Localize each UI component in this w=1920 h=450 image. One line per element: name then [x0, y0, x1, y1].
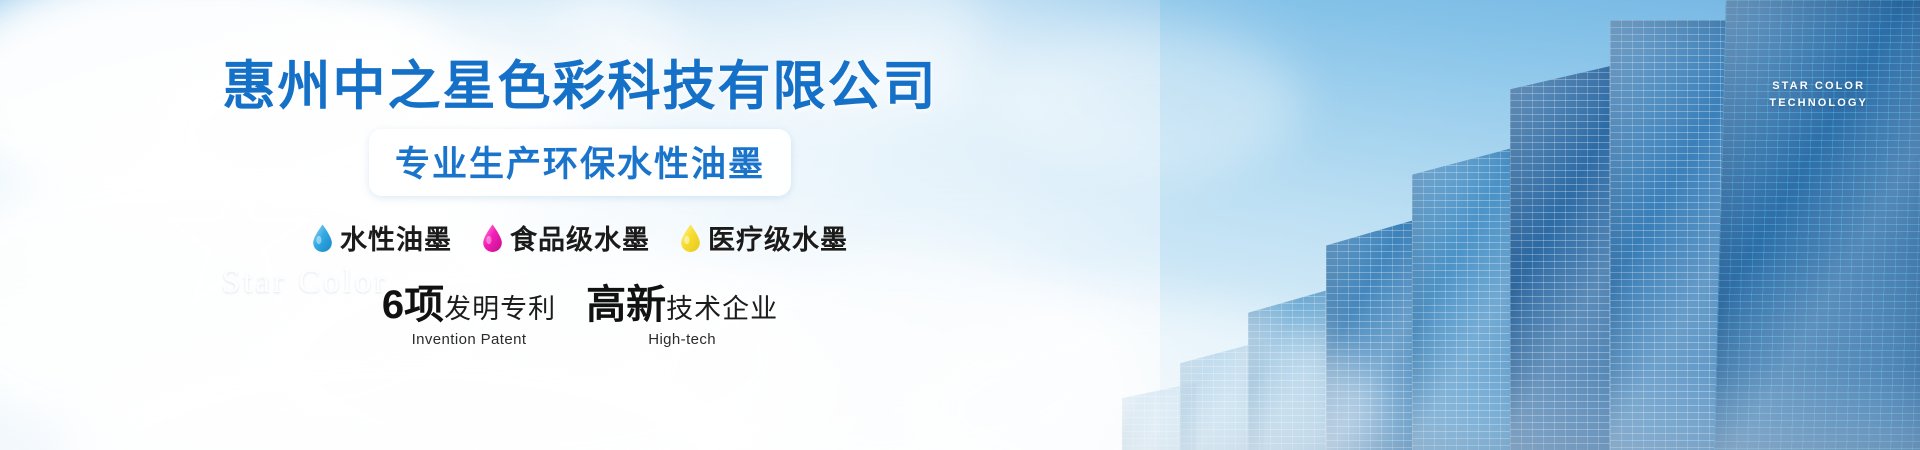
feature-label: 水性油墨	[340, 218, 452, 257]
badge-item: 高新技术企业 High-tech	[586, 285, 778, 348]
feature-list: 水性油墨 食品级水墨	[312, 218, 848, 257]
feature-label: 食品级水墨	[510, 218, 650, 257]
feature-item: 水性油墨	[312, 218, 452, 257]
feature-label: 医疗级水墨	[708, 218, 848, 257]
water-drop-icon	[680, 224, 701, 252]
badge-english: High-tech	[586, 331, 778, 348]
corner-brand-line1: STAR COLOR	[1769, 78, 1868, 95]
corner-brand-line2: TECHNOLOGY	[1769, 95, 1868, 112]
corner-brand-text: STAR COLOR TECHNOLOGY	[1769, 78, 1868, 112]
promo-banner: STAR COLOR TECHNOLOGY Star Color 惠州中之星色彩…	[0, 0, 1920, 450]
subtitle-text: 专业生产环保水性油墨	[395, 145, 765, 184]
badge-headline: 高新	[586, 283, 666, 327]
badge-headline: 6项	[382, 283, 444, 327]
badge-item: 6项发明专利 Invention Patent	[382, 285, 556, 348]
company-title: 惠州中之星色彩科技有限公司	[223, 58, 938, 115]
badge-list: 6项发明专利 Invention Patent 高新技术企业 High-tech	[382, 285, 778, 348]
feature-item: 医疗级水墨	[680, 218, 848, 257]
badge-chinese: 6项发明专利	[382, 285, 556, 325]
badge-subhead: 技术企业	[666, 294, 778, 324]
water-drop-icon	[312, 224, 333, 252]
badge-english: Invention Patent	[382, 331, 556, 348]
feature-item: 食品级水墨	[482, 218, 650, 257]
badge-subhead: 发明专利	[444, 294, 556, 324]
badge-chinese: 高新技术企业	[586, 285, 778, 325]
banner-content: 惠州中之星色彩科技有限公司 专业生产环保水性油墨 水性油墨	[0, 0, 1160, 450]
subtitle-pill: 专业生产环保水性油墨	[369, 129, 791, 196]
water-drop-icon	[482, 224, 503, 252]
